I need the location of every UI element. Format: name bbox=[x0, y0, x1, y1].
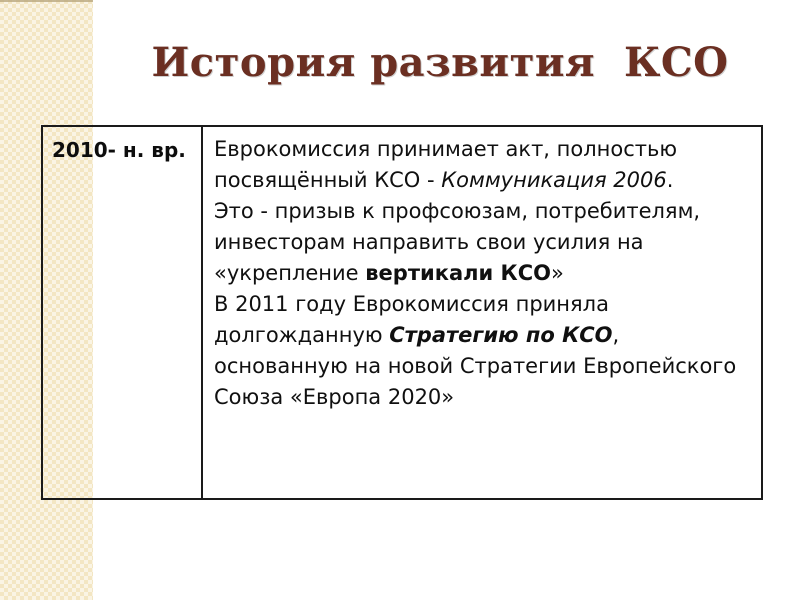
paragraph-2-run-2-bold: вертикали КСО bbox=[365, 261, 551, 285]
paragraph-3: В 2011 году Еврокомиссия приняла долгожд… bbox=[214, 289, 751, 413]
paragraph-2: Это - призыв к профсоюзам, потребителям,… bbox=[214, 196, 751, 289]
page-title: История развития КСО bbox=[110, 40, 770, 86]
paragraph-2-run-3: » bbox=[551, 261, 564, 285]
paragraph-1-run-3: . bbox=[667, 168, 674, 192]
table-cell-period: 2010- н. вр. bbox=[42, 126, 202, 499]
table-body: 2010- н. вр. Еврокомиссия принимает акт,… bbox=[42, 126, 762, 499]
paragraph-3-run-2-bold-italic: Стратегию по КСО bbox=[389, 323, 612, 347]
left-band-top-rule bbox=[0, 0, 93, 2]
table-row: 2010- н. вр. Еврокомиссия принимает акт,… bbox=[42, 126, 762, 499]
history-table: 2010- н. вр. Еврокомиссия принимает акт,… bbox=[41, 125, 763, 500]
paragraph-1: Еврокомиссия принимает акт, полностью по… bbox=[214, 134, 751, 196]
table-cell-content: Еврокомиссия принимает акт, полностью по… bbox=[202, 126, 762, 499]
paragraph-1-run-2-italic: Коммуникация 2006 bbox=[441, 168, 667, 192]
